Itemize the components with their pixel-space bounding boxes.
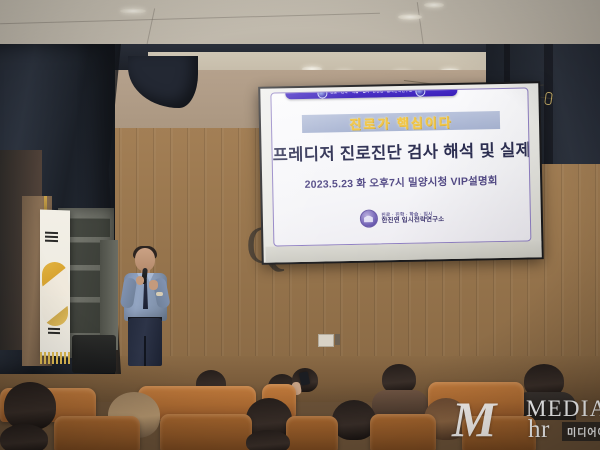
wall-outlet-plate	[318, 334, 334, 347]
ceiling-downlight	[120, 8, 146, 14]
flag-trigram-bar	[45, 240, 58, 242]
audience-head	[246, 430, 290, 450]
circle-emblem-icon	[416, 87, 426, 96]
slide-date-line: 2023.5.23 화 오후7시 밀양시청 VIP설명회	[273, 172, 529, 192]
logo-text-group: 진로 · 진학 · 학습 · 입시 한진연 입시전략연구소	[381, 211, 444, 225]
slide-tagline: 진로가 핵심이다	[349, 111, 453, 132]
projection-screen: 진로 · 진학 · 학습 · 입시 한진연 입시전략연구소 진로가 핵심이다 프…	[258, 81, 544, 265]
flag-fringe	[40, 352, 70, 364]
wall-switch-plate	[335, 334, 340, 345]
audience-head	[4, 382, 56, 430]
ceiling-downlight	[398, 14, 422, 20]
presentation-slide: 진로 · 진학 · 학습 · 입시 한진연 입시전략연구소 진로가 핵심이다 프…	[270, 87, 531, 246]
watermark-korean-badge: 미디어아워	[562, 422, 600, 441]
ceiling-downlight	[424, 2, 444, 8]
slide-main-title: 프레디저 진로진단 검사 해석 및 실제	[272, 136, 528, 165]
korean-flag-banner	[40, 209, 70, 356]
slide-header-text-right: 입시전략연구소	[387, 89, 413, 95]
flag-trigram-bar	[48, 332, 60, 334]
screen-surface: 진로 · 진학 · 학습 · 입시 한진연 입시전략연구소 진로가 핵심이다 프…	[260, 83, 541, 263]
slide-logo: 진로 · 진학 · 학습 · 입시 한진연 입시전략연구소	[274, 206, 530, 229]
auditorium-seat	[286, 416, 338, 450]
slide-header-text-left: 진로 · 진학 · 학습 · 입시	[330, 90, 370, 96]
presenter-hand-left	[136, 276, 144, 285]
watermark-line-2: hr	[528, 416, 550, 444]
auditorium-seat	[370, 414, 436, 450]
presenter	[118, 248, 174, 366]
presenter-hand-right	[149, 280, 158, 290]
slide-header-bar: 진로 · 진학 · 학습 · 입시 한진연 입시전략연구소	[285, 87, 457, 99]
audience-head	[0, 424, 48, 450]
auditorium-seat	[160, 414, 252, 450]
slide-header-text-mid: 한진연	[372, 89, 383, 94]
logo-title: 한진연 입시전략연구소	[381, 216, 444, 225]
slide-highlight-band: 진로가 핵심이다	[302, 111, 500, 133]
media-watermark: M MEDIA hr 미디어아워	[452, 392, 600, 448]
lecture-hall-photo: Q 진로 · 진학	[0, 0, 600, 450]
watermark-mark-icon: M	[452, 394, 492, 444]
auditorium-seat	[54, 416, 140, 450]
presenter-leg-seam	[144, 336, 146, 366]
circle-emblem-icon	[317, 88, 327, 98]
audience-shoulders	[372, 390, 428, 416]
institute-seal-icon	[359, 209, 377, 227]
flag-trigram-bar	[45, 236, 58, 238]
flag-trigram-bar	[45, 232, 58, 234]
flag-trigram-bar	[48, 328, 60, 330]
presenter-wristwatch	[156, 292, 163, 296]
flag-taegeuk-upper	[42, 262, 68, 297]
loudspeaker-cabinet	[72, 335, 116, 373]
rack-side-panel	[100, 240, 118, 350]
flag-taegeuk-lower	[42, 296, 68, 327]
